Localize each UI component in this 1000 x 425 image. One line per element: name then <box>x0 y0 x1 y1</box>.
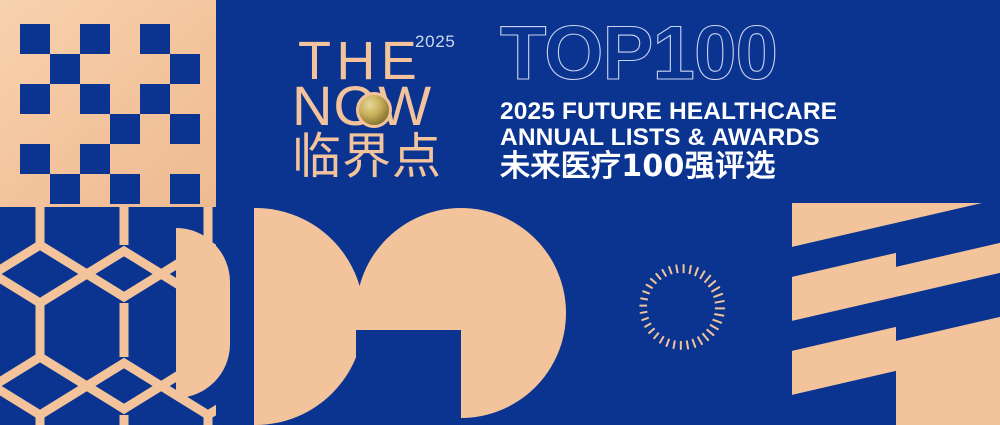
checkerboard-pattern <box>0 0 216 208</box>
checker-cell-0-1 <box>50 24 80 54</box>
checker-cell-2-2 <box>80 84 110 114</box>
notched-circle-cutout <box>356 330 461 425</box>
checker-cell-2-4 <box>140 84 170 114</box>
checker-cell-1-5 <box>170 54 200 84</box>
checker-cell-3-0 <box>20 114 50 144</box>
checker-cell-5-5 <box>170 174 200 204</box>
stripe-bar <box>792 203 896 256</box>
checker-cell-3-2 <box>80 114 110 144</box>
checker-cell-0-2 <box>80 24 110 54</box>
diagonal-stripes-pattern <box>792 203 1000 425</box>
gold-orb-icon <box>356 92 392 128</box>
checker-cell-2-0 <box>20 84 50 114</box>
logo-chinese: 临界点 <box>292 132 442 181</box>
subtitle-chinese: 未来医疗100强评选 <box>500 152 776 182</box>
checker-cell-4-5 <box>170 144 200 174</box>
checker-cell-4-3 <box>110 144 140 174</box>
headline-top100: TOP100 <box>500 18 777 90</box>
checker-cell-5-3 <box>110 174 140 204</box>
half-circle-shape-large <box>254 208 364 425</box>
checker-cell-2-5 <box>170 84 200 114</box>
notched-circle-shape <box>356 208 566 425</box>
checker-cell-4-0 <box>20 144 50 174</box>
checker-cell-3-5 <box>170 114 200 144</box>
award-banner: THE 2025 NOW 临界点 TOP100 2025 FUTURE HEAL… <box>0 0 1000 425</box>
logo-year: 2025 <box>415 32 456 52</box>
checker-cell-3-4 <box>140 114 170 144</box>
checker-cell-1-2 <box>80 54 110 84</box>
checker-cell-5-0 <box>20 174 50 204</box>
checker-cell-1-3 <box>110 54 140 84</box>
checker-cell-1-1 <box>50 54 80 84</box>
checker-cell-0-5 <box>170 24 200 54</box>
the-now-logo: THE 2025 NOW 临界点 <box>290 16 490 196</box>
stripes-right-half <box>896 203 1000 425</box>
stripe-bar <box>792 314 896 404</box>
stripe-bar <box>896 260 1000 350</box>
checker-cell-1-0 <box>20 54 50 84</box>
checker-cell-4-4 <box>140 144 170 174</box>
stripe-bar <box>792 240 896 330</box>
checker-cell-4-1 <box>50 144 80 174</box>
checker-cell-4-2 <box>80 144 110 174</box>
checker-cell-3-3 <box>110 114 140 144</box>
checker-cell-0-4 <box>140 24 170 54</box>
title-block: TOP100 2025 FUTURE HEALTHCARE ANNUAL LIS… <box>500 18 845 198</box>
checker-cell-5-1 <box>50 174 80 204</box>
stripe-bar <box>896 203 1000 276</box>
checker-cell-0-0 <box>20 24 50 54</box>
sunburst-center <box>647 273 715 341</box>
checker-cell-1-4 <box>140 54 170 84</box>
checker-cell-2-1 <box>50 84 80 114</box>
checker-cell-3-1 <box>50 114 80 144</box>
checker-cell-5-2 <box>80 174 110 204</box>
half-circle-shape-small <box>176 228 230 398</box>
checker-cell-2-3 <box>110 84 140 114</box>
subtitle-english-1: 2025 FUTURE HEALTHCARE <box>500 100 837 125</box>
stripes-left-half <box>792 203 896 425</box>
checker-cell-5-4 <box>140 174 170 204</box>
sunburst-radial-pattern <box>596 222 766 392</box>
checkerboard-grid <box>20 24 200 204</box>
checker-cell-0-3 <box>110 24 140 54</box>
subtitle-english-2: ANNUAL LISTS & AWARDS <box>500 126 820 151</box>
